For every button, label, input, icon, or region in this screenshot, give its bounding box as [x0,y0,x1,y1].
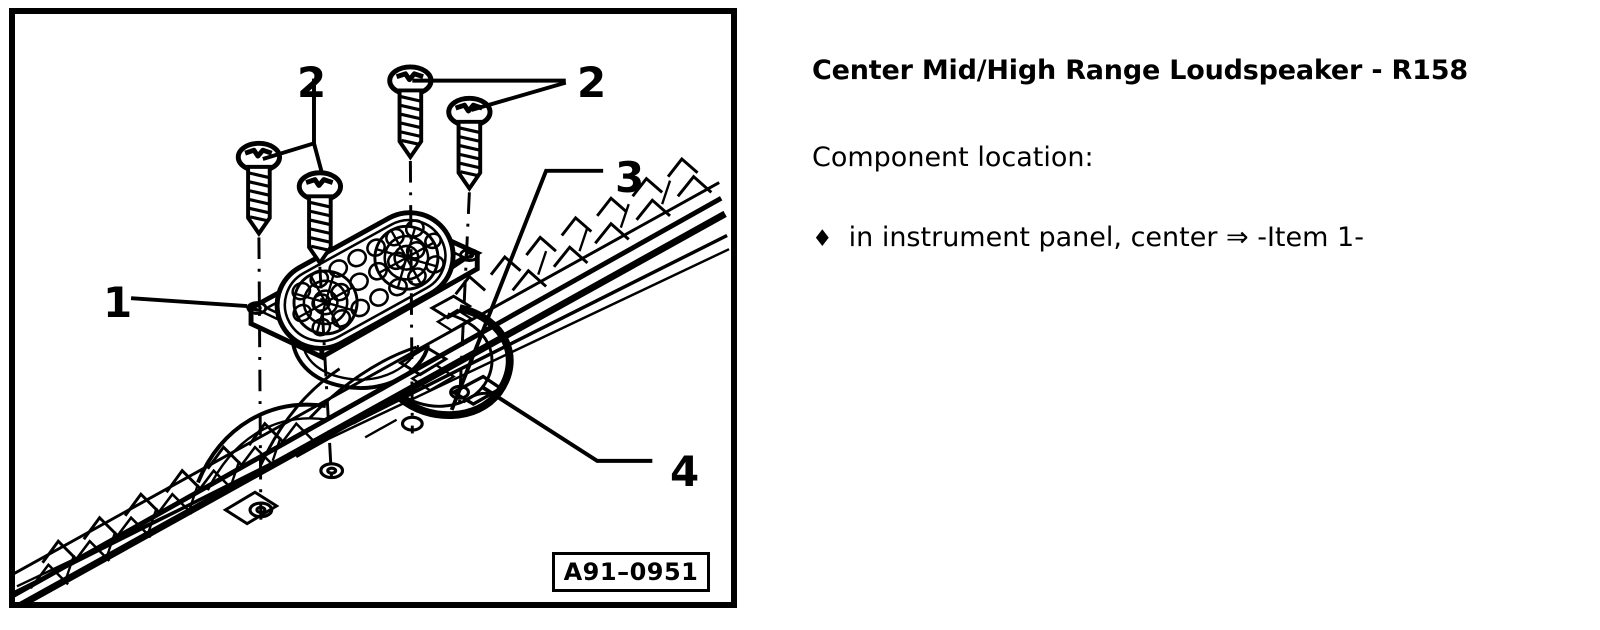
figure-frame: 1 2 2 3 4 A91–0951 [9,8,737,608]
figure-id-label: A91–0951 [564,560,699,584]
callout-2-right: 2 [577,62,606,104]
page-title: Center Mid/High Range Loudspeaker - R158 [812,55,1592,86]
diamond-bullet-icon: ♦ [812,228,833,251]
callout-2-left: 2 [297,62,326,104]
description-panel: Center Mid/High Range Loudspeaker - R158… [812,0,1592,630]
callout-4: 4 [670,451,699,493]
callout-3: 3 [615,157,644,199]
section-subheading: Component location: [812,142,1592,173]
list-item: ♦ in instrument panel, center ⇒ -Item 1- [812,222,1592,253]
service-manual-page: 1 2 2 3 4 A91–0951 Center Mid/High Range… [0,0,1600,630]
callout-1: 1 [103,282,132,324]
list-item-label: in instrument panel, center ⇒ -Item 1- [849,222,1364,253]
figure-id-plate: A91–0951 [552,552,710,592]
